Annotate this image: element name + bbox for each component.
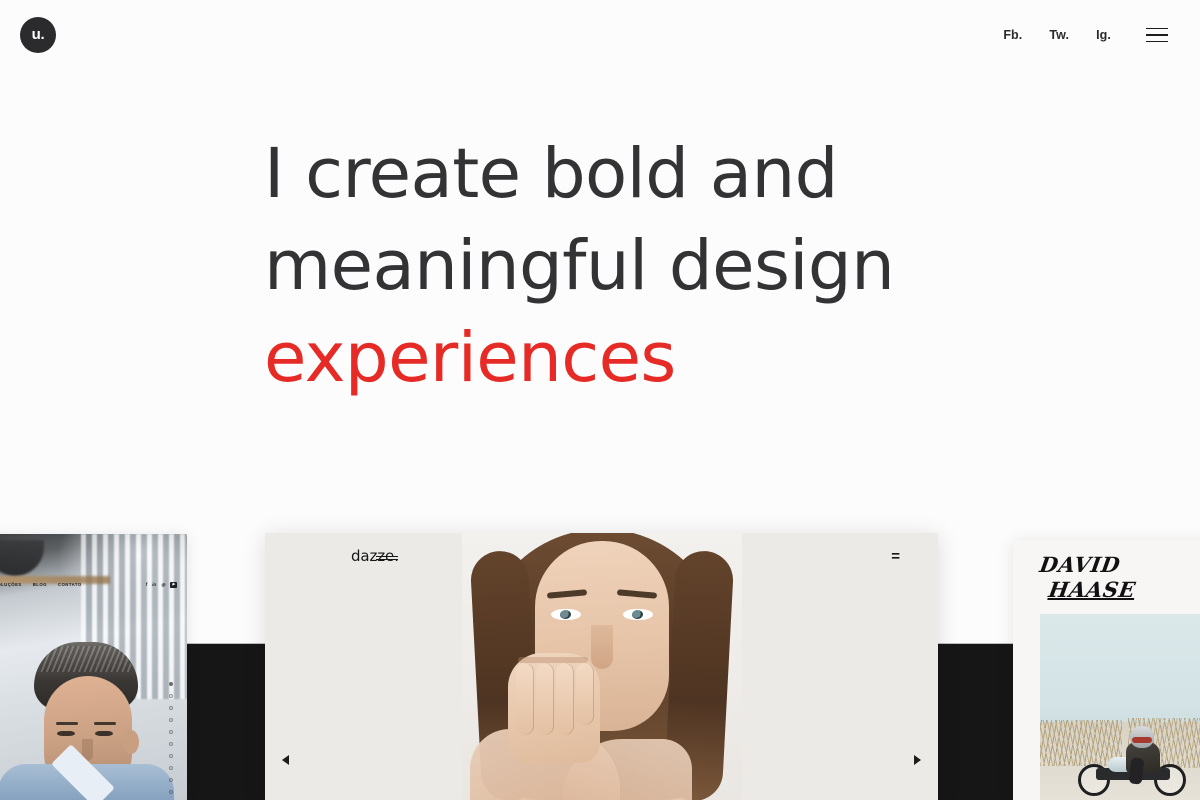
eyebrow-decor [546,589,586,598]
card-dazze-topbar: dazze. = [265,533,938,579]
scroll-dot[interactable] [169,682,173,686]
hero-section: I create bold and meaningful design expe… [264,128,1164,404]
project-card-solucoes[interactable]: SOLUÇÕES BLOG CONTATO f in ◎ ▶ [0,534,187,800]
eye-decor [623,609,653,620]
youtube-icon[interactable]: ▶ [170,582,177,588]
hero-headline-line-3-accent: experiences [264,312,1164,404]
device-panel-right [938,644,1013,800]
hand-decor [508,653,600,763]
nav-link-facebook[interactable]: Fb. [1003,28,1022,42]
nav-item-contato[interactable]: CONTATO [58,582,82,587]
finger-decor [576,663,594,725]
project-card-david-haase[interactable]: DAVID HAASE [1013,540,1200,800]
david-haase-logo[interactable]: DAVID HAASE [1040,552,1132,610]
device-panel-left [187,644,265,800]
nav-link-instagram[interactable]: Ig. [1096,28,1111,42]
lamp-decor [0,540,44,576]
nav-link-twitter[interactable]: Tw. [1049,28,1069,42]
card-social-links: f in ◎ ▶ [146,582,177,588]
scroll-dot[interactable] [169,790,173,794]
project-card-dazze[interactable]: dazze. = [265,533,938,800]
nav-item-solucoes[interactable]: SOLUÇÕES [0,582,22,587]
primary-nav: Fb. Tw. Ig. [1003,28,1168,43]
hero-headline-line-2: meaningful design [264,220,1164,312]
logo-line-1: DAVID [1038,552,1134,577]
scroll-dot[interactable] [169,718,173,722]
eyebrow-decor [616,589,656,598]
motorcycle-dunes-photo [1040,614,1200,800]
carousel-next-arrow-icon[interactable] [914,755,921,765]
visor-decor [1132,737,1152,743]
rider-leg-decor [1129,757,1145,784]
nav-item-blog[interactable]: BLOG [33,582,47,587]
facebook-icon[interactable]: f [146,583,148,588]
eyebrow-decor [56,722,78,725]
eye-decor [95,731,113,736]
instagram-icon[interactable]: ◎ [161,583,165,588]
scroll-dot[interactable] [169,706,173,710]
logo-strike-decor [376,556,398,560]
scroll-dot[interactable] [169,730,173,734]
hamburger-bar [1146,34,1168,36]
scroll-dot[interactable] [169,778,173,782]
hamburger-icon[interactable] [1146,28,1168,43]
finger-decor [556,663,574,735]
eye-decor [57,731,75,736]
ear-decor [123,730,139,754]
linkedin-icon[interactable]: in [152,583,156,588]
dazze-logo[interactable]: dazze. [351,547,399,565]
motorcycle-decor [1078,744,1186,796]
scroll-dot[interactable] [169,694,173,698]
hamburger-bar [1146,28,1168,30]
eyebrow-decor [94,722,116,725]
scroll-dots-indicator[interactable] [169,682,173,794]
finger-decor [516,663,534,735]
portrait-man-photo [0,638,168,800]
hero-headline-line-1: I create bold and [264,128,1164,220]
site-header: u. Fb. Tw. Ig. [0,0,1200,70]
scroll-dot[interactable] [169,754,173,758]
logo-text: u. [32,27,45,42]
scroll-dot[interactable] [169,766,173,770]
rider-decor [1120,730,1166,774]
nose-decor [591,625,613,669]
finger-decor [536,663,554,735]
card-solucoes-nav: SOLUÇÕES BLOG CONTATO f in ◎ ▶ [0,582,187,588]
scroll-dot[interactable] [169,742,173,746]
logo-line-2: HAASE [1047,577,1134,602]
carousel-prev-arrow-icon[interactable] [282,755,289,765]
logo-mark[interactable]: u. [20,17,56,53]
equals-menu-icon[interactable]: = [891,549,900,564]
shirt-decor [0,764,174,800]
hamburger-bar [1146,41,1168,43]
eye-decor [551,609,581,620]
